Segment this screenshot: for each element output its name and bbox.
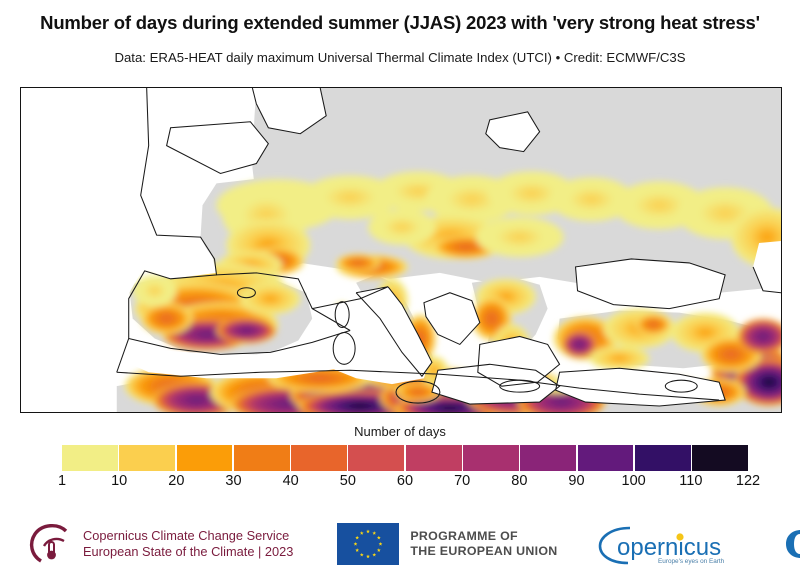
- c3s-line-2: European State of the Climate | 2023: [83, 544, 293, 561]
- colorbar-swatch[interactable]: [348, 445, 404, 471]
- colorbar-swatch[interactable]: [520, 445, 576, 471]
- eu-logo-block: PROGRAMME OF THE EUROPEAN UNION: [337, 523, 557, 565]
- colorbar-tick-label: 30: [225, 473, 241, 489]
- heat-stress-map: [21, 88, 781, 412]
- colorbar-tick-label: 110: [679, 473, 702, 489]
- eu-line-2: THE EUROPEAN UNION: [410, 544, 557, 560]
- c3s-line-1: Copernicus Climate Change Service: [83, 528, 293, 545]
- copernicus-tagline: Europe's eyes on Earth: [658, 558, 725, 565]
- ecmwf-logo-icon: ECMWF: [782, 525, 800, 563]
- colorbar-ticks: 1102030405060708090100110122: [62, 473, 748, 495]
- colorbar-swatch[interactable]: [177, 445, 233, 471]
- colorbar-swatch[interactable]: [463, 445, 519, 471]
- copernicus-dot-icon: [676, 533, 683, 540]
- c3s-logo-text: Copernicus Climate Change Service Europe…: [83, 528, 293, 561]
- colorbar-tick-label: 80: [511, 473, 527, 489]
- c3s-thermometer-icon: [28, 522, 74, 566]
- colorbar-swatch[interactable]: [406, 445, 462, 471]
- colorbar-tick-label: 20: [168, 473, 184, 489]
- colorbar-tick-label: 100: [622, 473, 646, 489]
- eu-line-1: PROGRAMME OF: [410, 529, 557, 545]
- copernicus-wordmark: opernicus: [617, 534, 721, 561]
- colorbar-tick-label: 50: [340, 473, 356, 489]
- colorbar-swatch[interactable]: [234, 445, 290, 471]
- colorbar-tick-label: 90: [568, 473, 584, 489]
- footer: Copernicus Climate Change Service Europe…: [0, 504, 800, 584]
- colorbar-swatch[interactable]: [119, 445, 175, 471]
- colorbar-tick-label: 1: [58, 473, 66, 489]
- colorbar-swatch[interactable]: [291, 445, 347, 471]
- colorbar-swatch[interactable]: [578, 445, 634, 471]
- colorbar-tick-label: 70: [454, 473, 470, 489]
- page-title: Number of days during extended summer (J…: [0, 12, 800, 34]
- c3s-logo-block: Copernicus Climate Change Service Europe…: [28, 522, 293, 566]
- colorbar-swatch[interactable]: [635, 445, 691, 471]
- page-subtitle: Data: ERA5-HEAT daily maximum Universal …: [0, 50, 800, 65]
- map-panel[interactable]: [20, 87, 782, 413]
- eu-flag-icon: [337, 523, 399, 565]
- colorbar-tick-label: 122: [736, 473, 760, 489]
- figure-root: Number of days during extended summer (J…: [0, 0, 800, 584]
- eu-logo-text: PROGRAMME OF THE EUROPEAN UNION: [410, 529, 557, 560]
- colorbar-swatch[interactable]: [62, 445, 118, 471]
- colorbar-tick-label: 40: [283, 473, 299, 489]
- colorbar-swatch[interactable]: [692, 445, 748, 471]
- colorbar-title: Number of days: [0, 424, 800, 439]
- colorbar[interactable]: [62, 445, 748, 471]
- colorbar-tick-label: 60: [397, 473, 413, 489]
- copernicus-logo-block: opernicus Europe's eyes on Earth: [596, 522, 746, 566]
- ecmwf-logo-block: IMPLEMENTED BY ECMWF: [782, 525, 800, 563]
- colorbar-tick-label: 10: [111, 473, 127, 489]
- copernicus-logo-icon: opernicus Europe's eyes on Earth: [596, 522, 746, 566]
